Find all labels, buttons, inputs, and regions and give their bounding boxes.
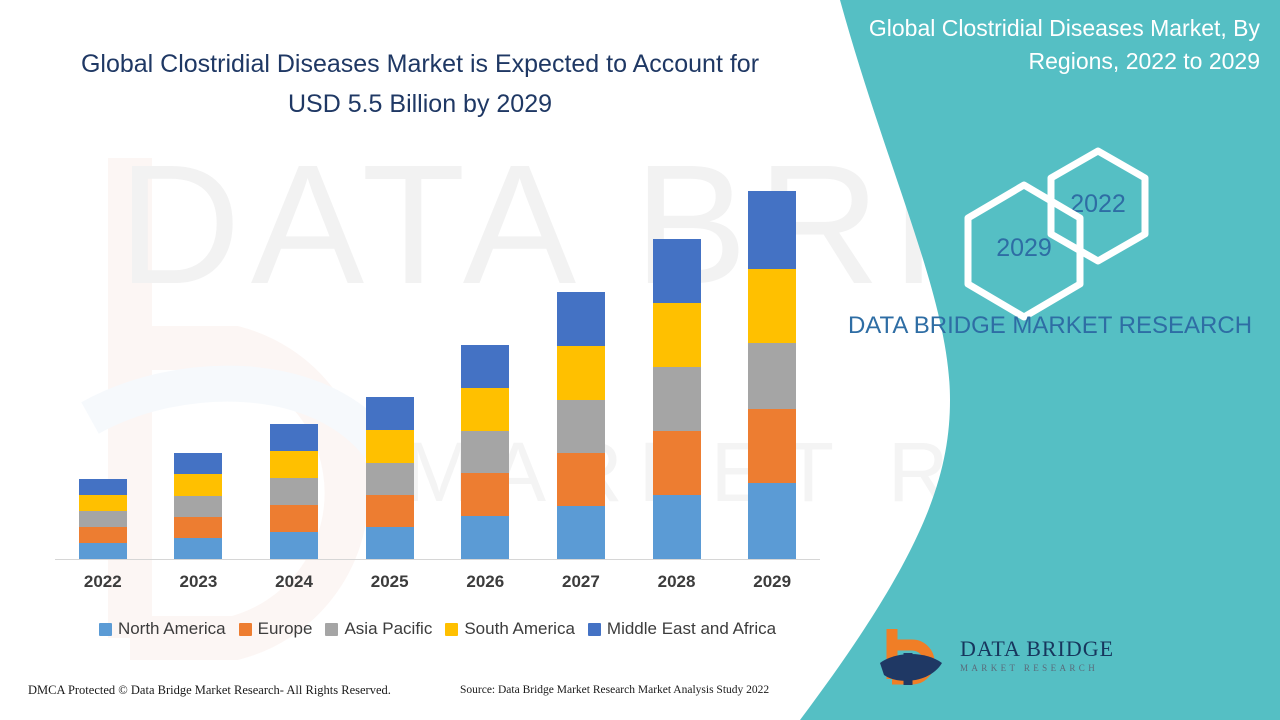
bar-stack (461, 345, 509, 559)
x-axis-tick-label: 2023 (151, 572, 247, 598)
company-logo: DATA BRIDGE MARKET RESEARCH (878, 620, 1118, 692)
bar-segment (366, 495, 414, 527)
bar-segment (461, 473, 509, 516)
bar-segment (79, 495, 127, 511)
bar-segment (270, 424, 318, 451)
legend-label: North America (118, 619, 226, 639)
bar-segment (653, 303, 701, 367)
bar-segment (748, 191, 796, 269)
bar-column (246, 424, 342, 559)
footer-dmca-notice: DMCA Protected © Data Bridge Market Rese… (28, 683, 391, 698)
bar-segment (748, 483, 796, 559)
x-axis-tick-label: 2027 (533, 572, 629, 598)
bar-segment (557, 453, 605, 506)
bar-stack (653, 239, 701, 559)
bar-segment (748, 343, 796, 409)
x-axis-tick-label: 2025 (342, 572, 438, 598)
bar-segment (79, 527, 127, 543)
bar-segment (270, 505, 318, 532)
bar-column (342, 397, 438, 559)
hexagon-end-label: 2029 (960, 234, 1088, 263)
legend-swatch-icon (445, 623, 458, 636)
legend-swatch-icon (239, 623, 252, 636)
bar-segment (174, 496, 222, 517)
bar-stack (366, 397, 414, 559)
x-axis-tick-label: 2022 (55, 572, 151, 598)
legend-label: South America (464, 619, 575, 639)
data-bridge-logo-icon (878, 623, 952, 689)
bar-segment (557, 346, 605, 400)
logo-text-block: DATA BRIDGE MARKET RESEARCH (960, 637, 1114, 675)
bar-segment (748, 409, 796, 483)
bar-stack (557, 292, 605, 559)
bar-segment (174, 517, 222, 538)
legend-item[interactable]: Europe (239, 619, 313, 639)
legend-swatch-icon (99, 623, 112, 636)
bar-column (533, 292, 629, 559)
bar-stack (174, 453, 222, 559)
chart-panel: Global Clostridial Diseases Market is Ex… (0, 0, 870, 720)
legend-item[interactable]: Asia Pacific (325, 619, 432, 639)
bar-stack (79, 479, 127, 559)
bar-stack (270, 424, 318, 559)
footer-source-note: Source: Data Bridge Market Research Mark… (460, 684, 769, 696)
bar-segment (461, 516, 509, 559)
logo-text-main: DATA BRIDGE (960, 637, 1114, 661)
bar-column (438, 345, 534, 559)
bar-segment (366, 430, 414, 463)
legend-label: Asia Pacific (344, 619, 432, 639)
bar-segment (174, 474, 222, 496)
logo-text-sub: MARKET RESEARCH (960, 661, 1114, 675)
bar-segment (461, 431, 509, 473)
legend-item[interactable]: South America (445, 619, 575, 639)
plot-area (55, 150, 820, 560)
legend-label: Europe (258, 619, 313, 639)
brand-name: DATA BRIDGE MARKET RESEARCH (840, 310, 1260, 342)
bar-segment (79, 543, 127, 559)
x-axis-tick-label: 2024 (246, 572, 342, 598)
bar-segment (461, 388, 509, 431)
chart-title: Global Clostridial Diseases Market is Ex… (60, 44, 780, 124)
bar-segment (270, 451, 318, 478)
bar-segment (653, 367, 701, 431)
panel-title: Global Clostridial Diseases Market, By R… (840, 12, 1260, 78)
legend-label: Middle East and Africa (607, 619, 776, 639)
bar-group (55, 150, 820, 559)
bar-segment (270, 532, 318, 559)
legend-item[interactable]: North America (99, 619, 226, 639)
bar-column (151, 453, 247, 559)
bar-segment (557, 292, 605, 346)
x-axis-tick-label: 2028 (629, 572, 725, 598)
bar-segment (653, 239, 701, 303)
bar-segment (270, 478, 318, 505)
bar-segment (461, 345, 509, 388)
bar-segment (653, 431, 701, 495)
chart-legend: North AmericaEuropeAsia PacificSouth Ame… (55, 616, 820, 642)
x-axis-labels: 20222023202420252026202720282029 (55, 572, 820, 598)
x-axis-tick-label: 2026 (438, 572, 534, 598)
bar-stack (748, 191, 796, 559)
bar-segment (174, 453, 222, 474)
bar-segment (366, 397, 414, 430)
bar-segment (557, 506, 605, 559)
bar-segment (748, 269, 796, 343)
bar-segment (79, 511, 127, 527)
legend-swatch-icon (588, 623, 601, 636)
bar-segment (653, 495, 701, 559)
legend-item[interactable]: Middle East and Africa (588, 619, 776, 639)
teal-background-shape (800, 0, 1280, 720)
legend-swatch-icon (325, 623, 338, 636)
bar-column (55, 479, 151, 559)
hexagon-badge-end: 2029 (960, 180, 1088, 322)
x-axis-line (55, 559, 820, 560)
bar-segment (79, 479, 127, 495)
brand-panel: Global Clostridial Diseases Market, By R… (800, 0, 1280, 720)
bar-segment (366, 463, 414, 495)
bar-segment (366, 527, 414, 559)
bar-column (629, 239, 725, 559)
bar-segment (174, 538, 222, 559)
bar-segment (557, 400, 605, 453)
